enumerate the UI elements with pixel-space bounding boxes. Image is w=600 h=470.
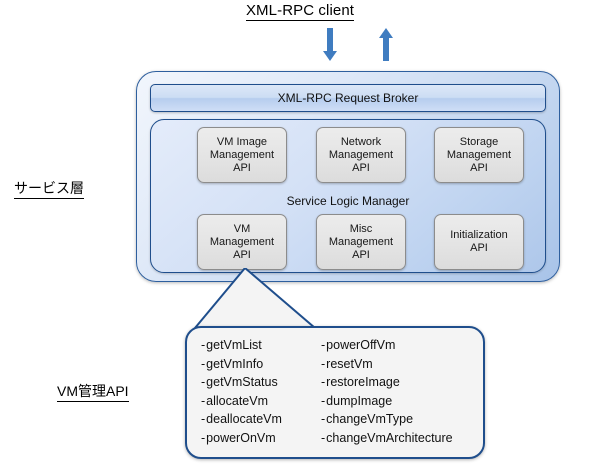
bullet-dash: -: [201, 375, 205, 389]
bullet-dash: -: [201, 431, 205, 445]
api-box-line3: API: [352, 249, 370, 262]
list-item-label: powerOnVm: [206, 431, 275, 445]
api-box-line1: Initialization: [450, 229, 507, 242]
response-arrow-up-icon: [378, 28, 394, 62]
list-item: -getVmList: [201, 336, 317, 355]
list-item: -deallocateVm: [201, 410, 317, 429]
list-item-label: changeVmArchitecture: [326, 431, 452, 445]
list-item-label: allocateVm: [206, 394, 268, 408]
callout-pointer: [190, 268, 326, 330]
list-item: -resetVm: [321, 355, 501, 374]
request-arrow-down-icon: [322, 28, 338, 62]
list-item: -dumpImage: [321, 392, 501, 411]
api-box-line3: API: [233, 249, 251, 262]
misc-management-api-box: Misc Management API: [316, 214, 406, 270]
api-box-line1: VM Image: [217, 136, 267, 149]
api-box-line2: Management: [329, 236, 393, 249]
list-item-label: powerOffVm: [326, 338, 395, 352]
list-item-label: getVmInfo: [206, 357, 263, 371]
bullet-dash: -: [321, 357, 325, 371]
vm-management-api-box: VM Management API: [197, 214, 287, 270]
storage-management-api-box: Storage Management API: [434, 127, 524, 183]
api-box-line3: API: [470, 162, 488, 175]
bullet-dash: -: [321, 338, 325, 352]
bullet-dash: -: [201, 357, 205, 371]
request-broker-label: XML-RPC Request Broker: [278, 91, 419, 105]
list-item-label: dumpImage: [326, 394, 392, 408]
list-item: -powerOnVm: [201, 429, 317, 448]
api-box-line3: API: [352, 162, 370, 175]
xml-rpc-request-broker: XML-RPC Request Broker: [150, 84, 546, 112]
api-box-line1: VM: [234, 223, 251, 236]
list-item-label: getVmList: [206, 338, 262, 352]
bullet-dash: -: [321, 412, 325, 426]
bullet-dash: -: [201, 394, 205, 408]
vm-management-api-label-text: VM管理API: [57, 383, 129, 402]
service-logic-manager-label: Service Logic Manager: [151, 194, 545, 208]
bullet-dash: -: [321, 394, 325, 408]
bullet-dash: -: [201, 412, 205, 426]
initialization-api-box: Initialization API: [434, 214, 524, 270]
client-title-text: XML-RPC client: [246, 2, 354, 21]
list-item-label: restoreImage: [326, 375, 400, 389]
list-item: -allocateVm: [201, 392, 317, 411]
api-box-line1: Network: [341, 136, 381, 149]
list-item-label: getVmStatus: [206, 375, 278, 389]
vm-api-method-column-left: -getVmList -getVmInfo -getVmStatus -allo…: [187, 336, 317, 457]
api-box-line2: Management: [329, 149, 393, 162]
api-box-line2: API: [470, 242, 488, 255]
list-item: -getVmInfo: [201, 355, 317, 374]
list-item: -restoreImage: [321, 373, 501, 392]
list-item-label: resetVm: [326, 357, 373, 371]
bullet-dash: -: [201, 338, 205, 352]
vm-management-api-label: VM管理API: [57, 381, 129, 401]
list-item: -getVmStatus: [201, 373, 317, 392]
service-layer-label-text: サービス層: [14, 180, 84, 199]
bullet-dash: -: [321, 431, 325, 445]
service-layer-label: サービス層: [14, 178, 84, 198]
api-box-line2: Management: [210, 236, 274, 249]
vm-image-management-api-box: VM Image Management API: [197, 127, 287, 183]
list-item-label: changeVmType: [326, 412, 413, 426]
list-item: -powerOffVm: [321, 336, 501, 355]
api-box-line1: Storage: [460, 136, 499, 149]
list-item-label: deallocateVm: [206, 412, 282, 426]
bullet-dash: -: [321, 375, 325, 389]
api-box-line3: API: [233, 162, 251, 175]
vm-api-method-column-right: -powerOffVm -resetVm -restoreImage -dump…: [317, 336, 501, 457]
vm-api-method-list: -getVmList -getVmInfo -getVmStatus -allo…: [185, 326, 485, 459]
list-item: -changeVmType: [321, 410, 501, 429]
api-box-line2: Management: [447, 149, 511, 162]
api-box-line2: Management: [210, 149, 274, 162]
network-management-api-box: Network Management API: [316, 127, 406, 183]
api-box-line1: Misc: [350, 223, 373, 236]
client-title: XML-RPC client: [0, 2, 600, 19]
list-item: -changeVmArchitecture: [321, 429, 501, 448]
